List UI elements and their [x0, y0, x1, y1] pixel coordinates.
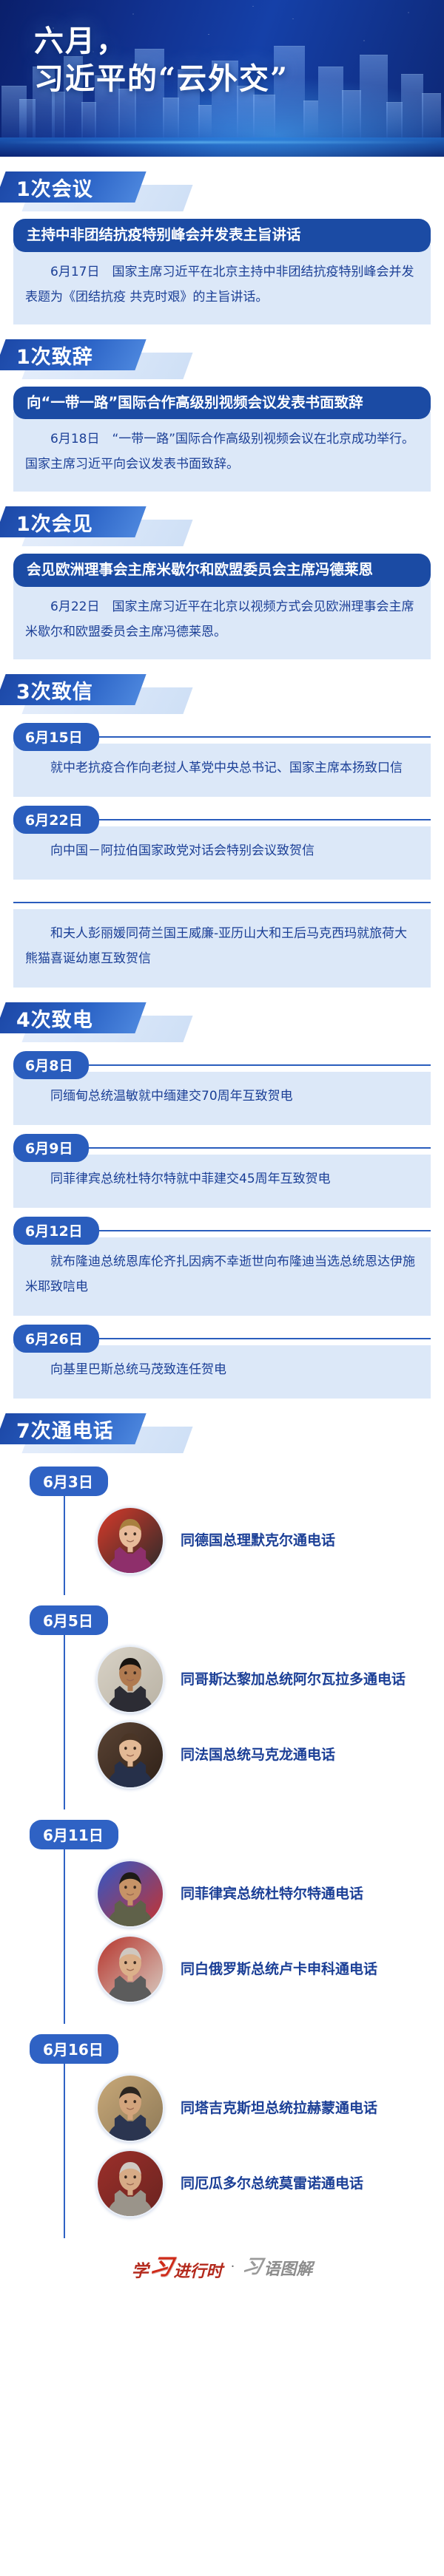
call-list: 同德国总理默克尔通电话: [64, 1496, 431, 1595]
date-badge: 6月22日: [13, 806, 99, 834]
date-rule: [95, 736, 431, 738]
brand2-char-xi-stylized: 习: [240, 2252, 266, 2279]
dated-entry-text: 和夫人彭丽媛同荷兰国王威廉-亚历山大和王后马克西玛就旅荷大熊猫喜诞幼崽互致贺信: [13, 909, 431, 988]
section-badge-shape: 3次致信: [0, 674, 147, 705]
section-badge-label: 7次通电话: [0, 1413, 141, 1444]
brand-separator-dot: ·: [227, 2259, 239, 2274]
call-row: 同白俄罗斯总统卢卡申科通电话: [96, 1935, 431, 2003]
dated-entry: 6月12日就布隆迪总统恩库伦齐扎因病不幸逝世向布隆迪当选总统恩达伊施米耶致唁电: [13, 1218, 431, 1316]
date-badge: 6月5日: [30, 1605, 108, 1635]
section-badge-shape: 4次致电: [0, 1002, 147, 1033]
call-row: 同哥斯达黎加总统阿尔瓦拉多通电话: [96, 1645, 431, 1713]
section-badge-shape: 7次通电话: [0, 1413, 147, 1444]
dated-entry-header: 6月15日: [13, 724, 431, 750]
dated-entry-header: 6月22日: [13, 807, 431, 832]
dated-entry: 6月8日同缅甸总统温敏就中缅建交70周年互致贺电: [13, 1053, 431, 1125]
dated-entry-text: 就中老抗疫合作向老挝人革党中央总书记、国家主席本扬致口信: [13, 744, 431, 797]
call-group: 6月16日同塔吉克斯坦总统拉赫蒙通电话同厄瓜多尔总统莫雷诺通电话: [13, 2034, 431, 2238]
event-card-title: 主持中非团结抗疫特别峰会并发表主旨讲话: [13, 219, 431, 252]
call-group: 6月3日同德国总理默克尔通电话: [13, 1467, 431, 1595]
brand-char-xue: 学: [132, 2257, 149, 2282]
section-badge-shape: 1次会议: [0, 171, 147, 203]
section-badge: 4次致电: [0, 999, 417, 1045]
section-1: 1次会议主持中非团结抗疫特别峰会并发表主旨讲话6月17日 国家主席习近平在北京主…: [13, 169, 431, 324]
date-badge: 6月16日: [30, 2034, 118, 2064]
date-badge: 6月26日: [13, 1325, 99, 1353]
event-card-title: 会见欧洲理事会主席米歇尔和欧盟委员会主席冯德莱恩: [13, 554, 431, 587]
brand-xuexi-jinxingshi: 学 习 进行时: [132, 2251, 223, 2283]
date-badge: 6月15日: [13, 723, 99, 751]
duterte-photo: [96, 1860, 164, 1928]
section-badge: 1次致辞: [0, 336, 417, 382]
alvarado-photo: [96, 1645, 164, 1713]
call-list: 同塔吉克斯坦总统拉赫蒙通电话同厄瓜多尔总统莫雷诺通电话: [64, 2064, 431, 2238]
section-5: 4次致电6月8日同缅甸总统温敏就中缅建交70周年互致贺电6月9日同菲律宾总统杜特…: [13, 999, 431, 1399]
event-card: 会见欧洲理事会主席米歇尔和欧盟委员会主席冯德莱恩6月22日 国家主席习近平在北京…: [13, 554, 431, 659]
section-badge-label: 1次会见: [0, 506, 141, 537]
water-reflection-decoration: [0, 137, 444, 157]
dated-entry-text: 同菲律宾总统杜特尔特就中菲建交45周年互致贺电: [13, 1155, 431, 1208]
date-rule: [95, 1338, 431, 1339]
section-badge: 1次会议: [0, 169, 417, 214]
date-rule: [13, 902, 431, 903]
rahmon-photo: [96, 2074, 164, 2142]
call-list: 同菲律宾总统杜特尔特通电话同白俄罗斯总统卢卡申科通电话: [64, 1849, 431, 2024]
event-card-body: 6月17日 国家主席习近平在北京主持中非团结抗疫特别峰会并发表题为《团结抗疫 共…: [13, 245, 431, 324]
merkel-photo: [96, 1506, 164, 1574]
call-label: 同哥斯达黎加总统阿尔瓦拉多通电话: [181, 1670, 406, 1690]
date-badge: 6月8日: [13, 1051, 89, 1079]
sections-container: 1次会议主持中非团结抗疫特别峰会并发表主旨讲话6月17日 国家主席习近平在北京主…: [0, 169, 444, 2238]
call-row: 同德国总理默克尔通电话: [96, 1506, 431, 1574]
dated-entry-text: 就布隆迪总统恩库伦齐扎因病不幸逝世向布隆迪当选总统恩达伊施米耶致唁电: [13, 1237, 431, 1316]
dated-entry-text: 向基里巴斯总统马茂致连任贺电: [13, 1345, 431, 1399]
infographic-page: 六月， 习近平的“云外交” 1次会议主持中非团结抗疫特别峰会并发表主旨讲话6月1…: [0, 0, 444, 2293]
dated-entry: 6月26日向基里巴斯总统马茂致连任贺电: [13, 1326, 431, 1399]
date-rule: [84, 1147, 431, 1149]
page-title: 六月， 习近平的“云外交”: [34, 22, 289, 98]
call-group: 6月11日同菲律宾总统杜特尔特通电话同白俄罗斯总统卢卡申科通电话: [13, 1820, 431, 2024]
call-label: 同法国总统马克龙通电话: [181, 1745, 335, 1765]
event-card: 向“一带一路”国际合作高级别视频会议发表书面致辞6月18日 “一带一路”国际合作…: [13, 387, 431, 492]
dated-entry: 6月15日就中老抗疫合作向老挝人革党中央总书记、国家主席本扬致口信: [13, 724, 431, 797]
dated-entry: 6月22日向中国－阿拉伯国家政党对话会特别会议致贺信: [13, 807, 431, 880]
brand2-text-yutujie: 语图解: [263, 2256, 312, 2280]
lukashenko-photo: [96, 1935, 164, 2003]
dated-entry-header: 6月26日: [13, 1326, 431, 1351]
brand-char-xi-stylized: 习: [147, 2249, 176, 2281]
dated-entry-header: 6月12日: [13, 1218, 431, 1243]
call-row: 同塔吉克斯坦总统拉赫蒙通电话: [96, 2074, 431, 2142]
dated-entry-header: 6月9日: [13, 1135, 431, 1160]
event-card-title: 向“一带一路”国际合作高级别视频会议发表书面致辞: [13, 387, 431, 420]
section-6: 7次通电话6月3日同德国总理默克尔通电话6月5日同哥斯达黎加总统阿尔瓦拉多通电话…: [13, 1410, 431, 2238]
section-3: 1次会见会见欧洲理事会主席米歇尔和欧盟委员会主席冯德莱恩6月22日 国家主席习近…: [13, 503, 431, 659]
event-card: 主持中非团结抗疫特别峰会并发表主旨讲话6月17日 国家主席习近平在北京主持中非团…: [13, 219, 431, 324]
call-row: 同厄瓜多尔总统莫雷诺通电话: [96, 2150, 431, 2218]
dated-entry-text: 向中国－阿拉伯国家政党对话会特别会议致贺信: [13, 826, 431, 880]
moreno-photo: [96, 2150, 164, 2218]
date-badge: 6月9日: [13, 1134, 89, 1162]
brand-text-jinxingshi: 进行时: [174, 2258, 223, 2282]
call-list: 同哥斯达黎加总统阿尔瓦拉多通电话同法国总统马克龙通电话: [64, 1635, 431, 1809]
footer-logo: 学 习 进行时 · 习 语图解: [0, 2241, 444, 2293]
date-badge: 6月12日: [13, 1217, 99, 1245]
date-rule: [95, 1230, 431, 1231]
section-badge-label: 4次致电: [0, 1002, 141, 1033]
event-card-body: 6月18日 “一带一路”国际合作高级别视频会议在北京成功举行。国家主席习近平向会…: [13, 412, 431, 492]
section-badge-label: 1次会议: [0, 171, 141, 203]
call-group: 6月5日同哥斯达黎加总统阿尔瓦拉多通电话同法国总统马克龙通电话: [13, 1605, 431, 1809]
call-label: 同菲律宾总统杜特尔特通电话: [181, 1884, 363, 1904]
dated-entry-header: 6月8日: [13, 1053, 431, 1078]
section-badge-label: 1次致辞: [0, 339, 141, 370]
section-badge: 7次通电话: [0, 1410, 417, 1456]
brand-xiyu-tujie: 习 语图解: [243, 2253, 312, 2280]
call-label: 同厄瓜多尔总统莫雷诺通电话: [181, 2174, 363, 2194]
section-badge: 1次会见: [0, 503, 417, 549]
date-rule: [84, 1064, 431, 1066]
section-badge: 3次致信: [0, 671, 417, 717]
macron-photo: [96, 1721, 164, 1789]
date-badge: 6月3日: [30, 1467, 108, 1496]
call-label: 同德国总理默克尔通电话: [181, 1531, 335, 1551]
header-banner: 六月， 习近平的“云外交”: [0, 0, 444, 157]
event-card-body: 6月22日 国家主席习近平在北京以视频方式会见欧洲理事会主席米歇尔和欧盟委员会主…: [13, 580, 431, 659]
call-row: 同菲律宾总统杜特尔特通电话: [96, 1860, 431, 1928]
section-badge-shape: 1次会见: [0, 506, 147, 537]
date-rule: [95, 819, 431, 820]
dated-entry-text: 同缅甸总统温敏就中缅建交70周年互致贺电: [13, 1072, 431, 1125]
call-label: 同白俄罗斯总统卢卡申科通电话: [181, 1960, 377, 1979]
section-2: 1次致辞向“一带一路”国际合作高级别视频会议发表书面致辞6月18日 “一带一路”…: [13, 336, 431, 492]
section-badge-label: 3次致信: [0, 674, 141, 705]
section-badge-shape: 1次致辞: [0, 339, 147, 370]
call-label: 同塔吉克斯坦总统拉赫蒙通电话: [181, 2098, 377, 2118]
dated-entry: 6月9日同菲律宾总统杜特尔特就中菲建交45周年互致贺电: [13, 1135, 431, 1208]
section-4: 3次致信6月15日就中老抗疫合作向老挝人革党中央总书记、国家主席本扬致口信6月2…: [13, 671, 431, 988]
date-badge: 6月11日: [30, 1820, 118, 1849]
call-row: 同法国总统马克龙通电话: [96, 1721, 431, 1789]
dated-entry-header: [13, 890, 431, 915]
dated-entry: 和夫人彭丽媛同荷兰国王威廉-亚历山大和王后马克西玛就旅荷大熊猫喜诞幼崽互致贺信: [13, 890, 431, 988]
